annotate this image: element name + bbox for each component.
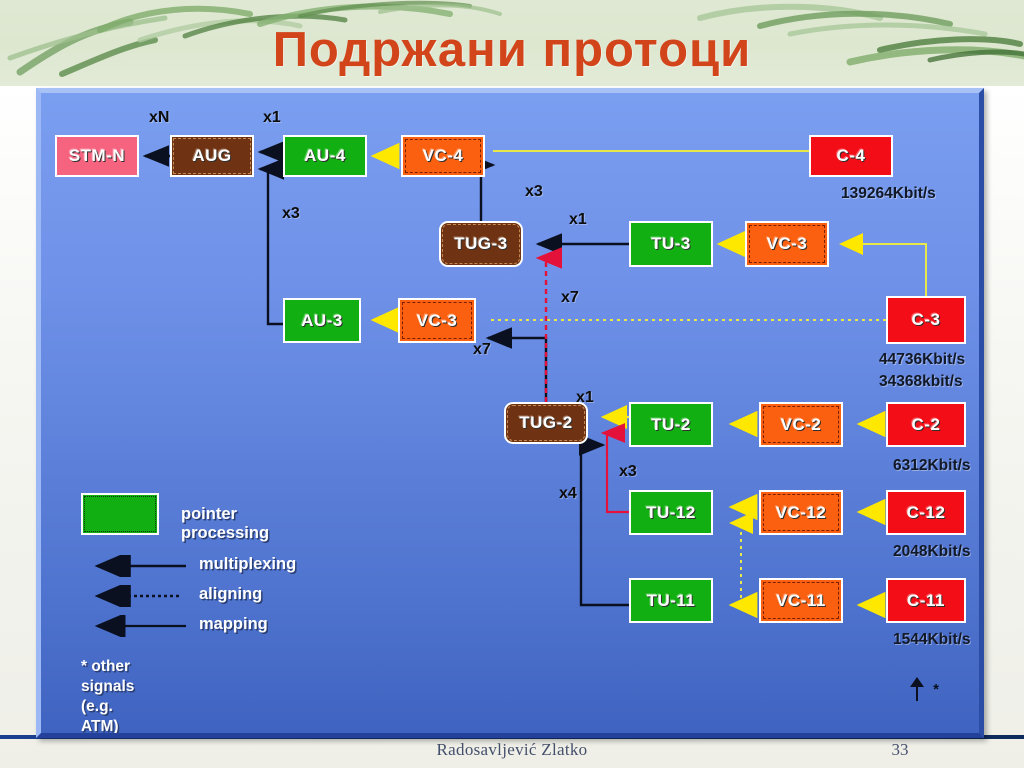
node-tu-11[interactable]: TU-11 xyxy=(629,578,713,623)
node-label: TUG-2 xyxy=(519,413,573,433)
multiplier-label: x7 xyxy=(473,341,491,359)
node-tug-3[interactable]: TUG-3 xyxy=(439,221,523,267)
bitrate-label: 139264Kbit/s xyxy=(841,185,936,203)
legend-multiplexing-arrow-icon xyxy=(81,555,191,577)
multiplier-label: x3 xyxy=(619,463,637,481)
edge-tug2-to-tug3 xyxy=(538,258,546,402)
node-label: VC-12 xyxy=(776,503,827,523)
diagram-canvas: STM-NAUGAU-4VC-4C-4TUG-3TU-3VC-3AU-3VC-3… xyxy=(41,93,979,733)
bitrate-label: 44736Kbit/s xyxy=(879,351,965,369)
multiplier-label: x3 xyxy=(525,183,543,201)
legend-multiplexing-label: multiplexing xyxy=(199,555,296,574)
node-label: STM-N xyxy=(69,146,125,166)
bitrate-label: 34368kbit/s xyxy=(879,373,963,391)
node-label: TU-11 xyxy=(647,591,696,611)
bitrate-label: 6312Kbit/s xyxy=(893,457,971,475)
bitrate-label: 1544Kbit/s xyxy=(893,631,971,649)
node-label: C-12 xyxy=(907,503,946,523)
corner-star-glyph: * xyxy=(933,681,939,698)
node-vc-4[interactable]: VC-4 xyxy=(401,135,485,177)
node-label: VC-3 xyxy=(417,311,458,331)
edge-vc11-branch-to-tu12 xyxy=(731,523,741,598)
node-stm-n[interactable]: STM-N xyxy=(55,135,139,177)
node-vc-3b[interactable]: VC-3 xyxy=(398,298,476,343)
node-c-11[interactable]: C-11 xyxy=(886,578,966,623)
multiplier-label: x1 xyxy=(576,389,594,407)
node-tug-2[interactable]: TUG-2 xyxy=(504,402,588,444)
page-title: Подржани протоци xyxy=(0,22,1024,78)
legend-mapping-arrow-icon xyxy=(81,615,191,637)
node-au-3[interactable]: AU-3 xyxy=(283,298,361,343)
node-vc-3a[interactable]: VC-3 xyxy=(745,221,829,267)
multiplier-label: x4 xyxy=(559,485,577,503)
multiplier-label: x1 xyxy=(263,109,281,127)
node-vc-2[interactable]: VC-2 xyxy=(759,402,843,447)
edge-c3-to-vc3a xyxy=(841,244,926,296)
multiplier-label: x7 xyxy=(561,289,579,307)
multiplier-label: xN xyxy=(149,109,169,127)
corner-arrow-star-marker: * xyxy=(903,675,939,705)
node-label: C-11 xyxy=(907,591,945,611)
multiplier-label: x1 xyxy=(569,211,587,229)
legend-mapping-label: mapping xyxy=(199,615,268,634)
edge-tug2-to-vc3b xyxy=(488,338,546,402)
node-label: C-4 xyxy=(837,146,866,166)
node-tu-3[interactable]: TU-3 xyxy=(629,221,713,267)
node-aug[interactable]: AUG xyxy=(170,135,254,177)
node-label: AU-4 xyxy=(304,146,346,166)
node-au-4[interactable]: AU-4 xyxy=(283,135,367,177)
footer-page-number: 33 xyxy=(870,740,930,760)
node-vc-12[interactable]: VC-12 xyxy=(759,490,843,535)
slide-canvas: Подржани протоци Radosavljević Zlatko 33 xyxy=(0,0,1024,768)
node-label: AUG xyxy=(192,146,231,166)
sdh-multiplexing-diagram: STM-NAUGAU-4VC-4C-4TUG-3TU-3VC-3AU-3VC-3… xyxy=(36,88,984,738)
legend-aligning-arrow-icon xyxy=(81,585,191,607)
edge-au3-to-aug xyxy=(260,169,283,324)
node-vc-11[interactable]: VC-11 xyxy=(759,578,843,623)
node-label: TU-12 xyxy=(646,503,696,523)
node-label: TU-3 xyxy=(651,234,691,254)
legend-pointer-processing-label: pointer processing xyxy=(181,505,269,543)
node-c-4[interactable]: C-4 xyxy=(809,135,893,177)
node-label: VC-11 xyxy=(776,591,826,611)
up-arrow-icon xyxy=(903,675,933,705)
multiplier-label: x3 xyxy=(282,205,300,223)
node-label: VC-2 xyxy=(781,415,822,435)
node-c-12[interactable]: C-12 xyxy=(886,490,966,535)
node-c-2[interactable]: C-2 xyxy=(886,402,966,447)
legend-footnote: * other signals (e.g. ATM) can also be c… xyxy=(81,657,134,738)
node-label: TU-2 xyxy=(651,415,691,435)
node-label: C-3 xyxy=(912,310,941,330)
node-tu-12[interactable]: TU-12 xyxy=(629,490,713,535)
node-label: AU-3 xyxy=(301,311,343,331)
bitrate-label: 2048Kbit/s xyxy=(893,543,971,561)
node-label: VC-3 xyxy=(767,234,808,254)
node-c-3[interactable]: C-3 xyxy=(886,296,966,344)
legend-pointer-processing-swatch xyxy=(81,493,159,535)
node-tu-2[interactable]: TU-2 xyxy=(629,402,713,447)
node-label: VC-4 xyxy=(423,146,464,166)
node-label: C-2 xyxy=(912,415,941,435)
legend-aligning-label: aligning xyxy=(199,585,262,604)
node-label: TUG-3 xyxy=(454,234,508,254)
